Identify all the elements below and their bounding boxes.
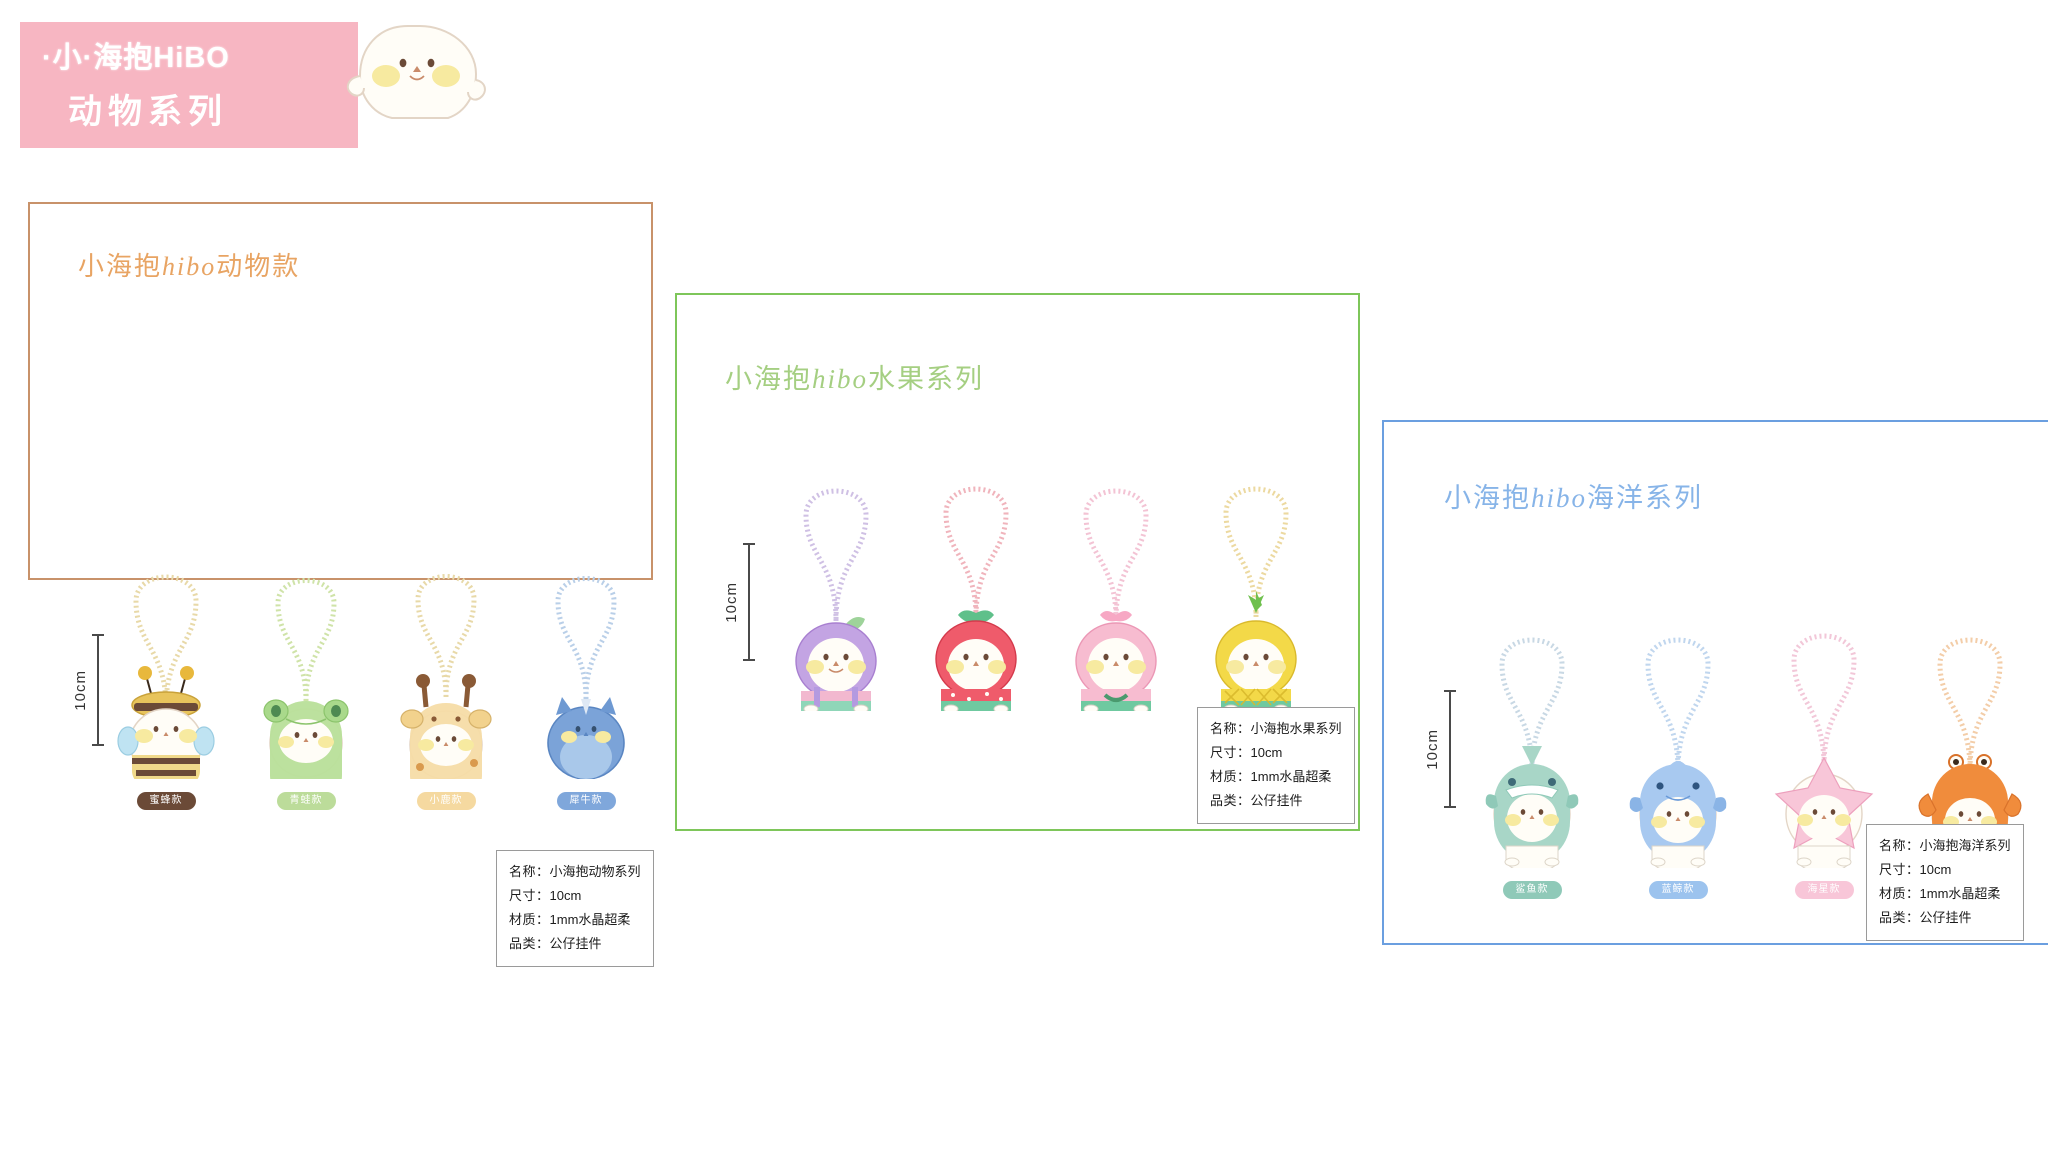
info-value: 公仔挂件	[1251, 793, 1303, 808]
info-key: 名称：	[1210, 721, 1251, 736]
scale-indicator-ocean: 10cm	[1424, 690, 1456, 808]
panel-animal-series[interactable]: 小海抱hibo动物款 10cm	[28, 202, 653, 580]
character-starfish[interactable]: 海星款	[1768, 590, 1880, 899]
info-value: 1mm水晶超柔	[550, 912, 631, 927]
character-whale[interactable]: 蓝鲸款	[1622, 590, 1734, 899]
info-key: 尺寸：	[509, 888, 550, 903]
character-rhino[interactable]: 犀牛款	[530, 529, 642, 810]
info-row: 材质：1mm水晶超柔	[1879, 882, 2011, 906]
info-value: 10cm	[1920, 862, 1952, 877]
title-suffix: 海洋系列	[1587, 483, 1703, 513]
character-pineapple[interactable]	[1197, 443, 1315, 716]
character-strawberry[interactable]	[917, 443, 1035, 716]
info-row: 尺寸：10cm	[509, 884, 641, 908]
character-shark[interactable]: 鲨鱼款	[1476, 590, 1588, 899]
panel-animal-title: 小海抱hibo动物款	[78, 246, 300, 283]
title-suffix: 动物款	[216, 251, 300, 281]
title-latin: hibo	[812, 364, 868, 394]
info-row: 名称：小海抱海洋系列	[1879, 834, 2011, 858]
scale-label: 10cm	[723, 582, 740, 623]
title-prefix: 小海抱	[725, 364, 812, 394]
info-key: 材质：	[509, 912, 550, 927]
scale-label: 10cm	[72, 670, 89, 711]
info-key: 材质：	[1210, 769, 1251, 784]
panel-ocean-series[interactable]: 小海抱hibo海洋系列 10cm	[1382, 420, 2048, 945]
character-art	[1057, 443, 1175, 716]
character-art	[1476, 590, 1588, 873]
title-latin: hibo	[162, 252, 216, 281]
character-bee[interactable]: 蜜蜂款	[110, 529, 222, 810]
info-key: 尺寸：	[1210, 745, 1251, 760]
info-key: 品类：	[1210, 793, 1251, 808]
character-badge: 鲨鱼款	[1503, 881, 1562, 899]
character-grape[interactable]	[777, 443, 895, 716]
info-key: 名称：	[1879, 838, 1920, 853]
panel-fruit-series[interactable]: 小海抱hibo水果系列 10cm	[675, 293, 1360, 831]
info-key: 品类：	[509, 936, 550, 951]
info-value: 10cm	[1251, 745, 1283, 760]
info-box-animal: 名称：小海抱动物系列 尺寸：10cm 材质：1mm水晶超柔 品类：公仔挂件	[496, 850, 654, 967]
info-value: 10cm	[550, 888, 582, 903]
info-row: 品类：公仔挂件	[1210, 789, 1342, 813]
character-art	[917, 443, 1035, 716]
info-row: 名称：小海抱水果系列	[1210, 717, 1342, 741]
hibo-seal-mascot-icon	[330, 18, 490, 128]
header-banner: ·小·海抱HiBO 动物系列	[20, 22, 358, 148]
info-row: 材质：1mm水晶超柔	[509, 908, 641, 932]
character-row-animal: 蜜蜂款	[110, 529, 642, 810]
character-art	[390, 529, 502, 784]
character-art	[250, 529, 362, 784]
info-row: 材质：1mm水晶超柔	[1210, 765, 1342, 789]
info-value: 公仔挂件	[550, 936, 602, 951]
info-value: 1mm水晶超柔	[1251, 769, 1332, 784]
info-row: 尺寸：10cm	[1879, 858, 2011, 882]
character-frog[interactable]: 青蛙款	[250, 529, 362, 810]
character-badge: 海星款	[1795, 881, 1854, 899]
info-row: 品类：公仔挂件	[1879, 906, 2011, 930]
character-badge: 小鹿款	[417, 792, 476, 810]
info-value: 小海抱水果系列	[1251, 721, 1342, 736]
info-value: 1mm水晶超柔	[1920, 886, 2001, 901]
info-row: 尺寸：10cm	[1210, 741, 1342, 765]
character-peach[interactable]	[1057, 443, 1175, 716]
character-badge: 蜜蜂款	[137, 792, 196, 810]
info-key: 品类：	[1879, 910, 1920, 925]
title-prefix: 小海抱	[78, 251, 162, 281]
scale-label: 10cm	[1424, 729, 1441, 770]
brand-title-line1: ·小·海抱HiBO	[42, 34, 230, 76]
title-latin: hibo	[1531, 483, 1587, 513]
character-badge: 青蛙款	[277, 792, 336, 810]
character-art	[1768, 590, 1880, 873]
info-key: 名称：	[509, 864, 550, 879]
info-key: 材质：	[1879, 886, 1920, 901]
character-art	[777, 443, 895, 716]
info-box-ocean: 名称：小海抱海洋系列 尺寸：10cm 材质：1mm水晶超柔 品类：公仔挂件	[1866, 824, 2024, 941]
info-key: 尺寸：	[1879, 862, 1920, 877]
panel-ocean-title: 小海抱hibo海洋系列	[1444, 476, 1703, 515]
character-badge: 蓝鲸款	[1649, 881, 1708, 899]
title-suffix: 水果系列	[868, 364, 984, 394]
panel-fruit-title: 小海抱hibo水果系列	[725, 357, 984, 396]
character-badge: 犀牛款	[557, 792, 616, 810]
character-art	[1622, 590, 1734, 873]
character-art	[110, 529, 222, 784]
catalog-canvas: ·小·海抱HiBO 动物系列 小海抱hibo动物款 10cm	[0, 0, 2048, 1152]
info-box-fruit: 名称：小海抱水果系列 尺寸：10cm 材质：1mm水晶超柔 品类：公仔挂件	[1197, 707, 1355, 824]
character-deer[interactable]: 小鹿款	[390, 529, 502, 810]
scale-indicator-animal: 10cm	[72, 634, 104, 746]
character-row-fruit	[777, 443, 1315, 716]
brand-title-line2: 动物系列	[68, 84, 228, 133]
character-art	[1197, 443, 1315, 716]
info-row: 品类：公仔挂件	[509, 932, 641, 956]
title-prefix: 小海抱	[1444, 483, 1531, 513]
info-row: 名称：小海抱动物系列	[509, 860, 641, 884]
scale-indicator-fruit: 10cm	[723, 543, 755, 661]
info-value: 公仔挂件	[1920, 910, 1972, 925]
info-value: 小海抱海洋系列	[1920, 838, 2011, 853]
info-value: 小海抱动物系列	[550, 864, 641, 879]
character-art	[530, 529, 642, 784]
